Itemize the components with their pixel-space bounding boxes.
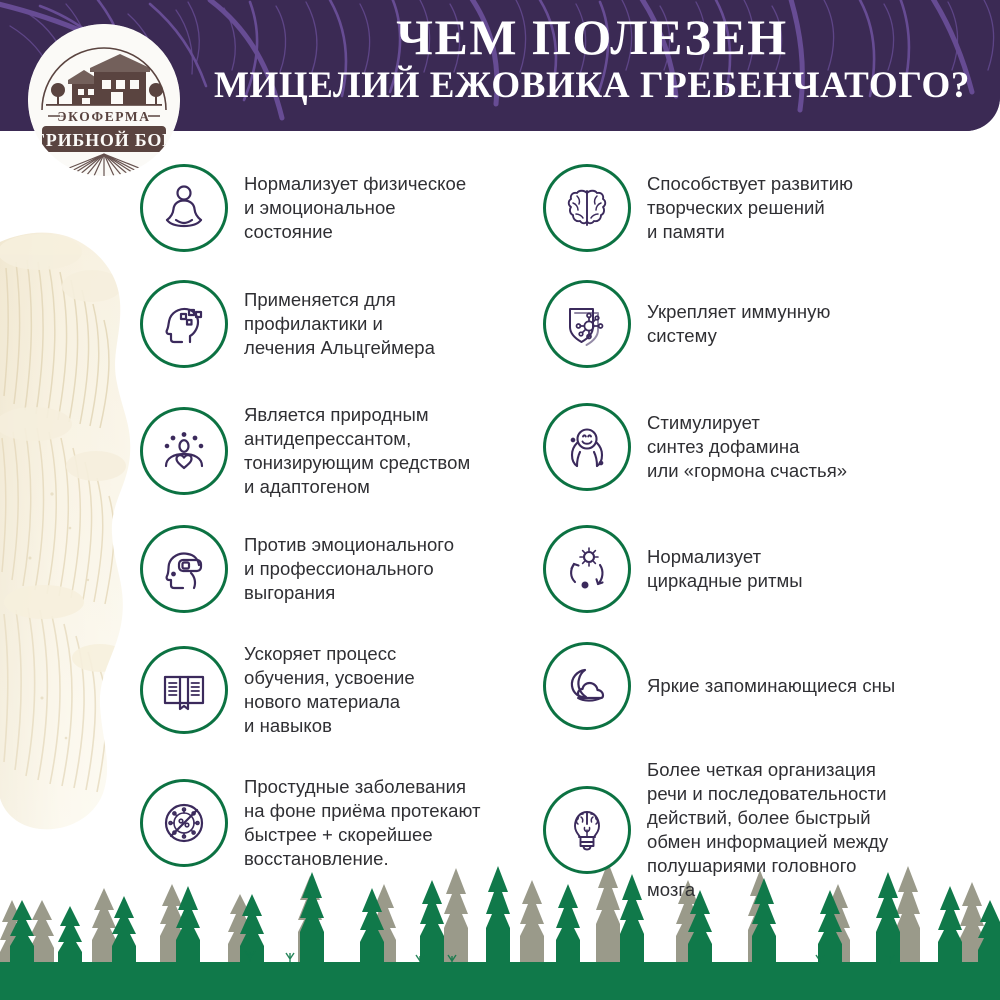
sun-circadian-cycle-icon xyxy=(561,543,613,595)
logo-top-text: ЭКОФЕРМА xyxy=(57,109,150,124)
benefit-text: Яркие запоминающиеся сны xyxy=(647,674,977,698)
benefit-item: Применяется для профилактики и лечения А… xyxy=(140,280,516,368)
head-vr-headset-icon xyxy=(158,543,210,595)
hands-smiley-icon xyxy=(561,421,613,473)
brand-logo[interactable]: ЭКОФЕРМА ГРИБНОЙ БОГ xyxy=(28,24,180,176)
benefit-badge xyxy=(543,164,631,252)
logo-name-text: ГРИБНОЙ БОГ xyxy=(34,129,175,150)
benefit-badge xyxy=(140,164,228,252)
lightbulb-brain-icon xyxy=(561,804,613,856)
benefit-badge xyxy=(140,646,228,734)
benefit-item: Против эмоционального и профессиональног… xyxy=(140,525,516,613)
benefit-item: Является природным антидепрессантом, тон… xyxy=(140,403,516,499)
benefit-text: Является природным антидепрессантом, тон… xyxy=(244,403,516,499)
benefit-text: Ускоряет процесс обучения, усвоение ново… xyxy=(244,642,516,738)
benefit-badge xyxy=(543,642,631,730)
benefit-badge xyxy=(543,525,631,613)
benefit-badge xyxy=(140,525,228,613)
no-virus-icon xyxy=(158,797,210,849)
benefit-item: Способствует развитию творческих решений… xyxy=(543,164,977,252)
benefit-badge xyxy=(543,280,631,368)
shield-molecule-icon xyxy=(561,298,613,350)
benefit-item: Нормализует циркадные ритмы xyxy=(543,525,977,613)
benefit-text: Применяется для профилактики и лечения А… xyxy=(244,288,516,360)
benefit-badge xyxy=(140,779,228,867)
benefit-item: Укрепляет иммунную систему xyxy=(543,280,977,368)
heart-uplift-icon xyxy=(158,425,210,477)
benefit-text: Нормализует физическое и эмоциональное с… xyxy=(244,172,516,244)
benefit-item: Ускоряет процесс обучения, усвоение ново… xyxy=(140,642,516,738)
brain-icon xyxy=(561,182,613,234)
benefit-badge xyxy=(140,280,228,368)
benefit-item: Более четкая организация речи и последов… xyxy=(543,758,977,902)
benefit-text: Против эмоционального и профессиональног… xyxy=(244,533,516,605)
moon-cloud-icon xyxy=(561,660,613,712)
meditation-lotus-icon xyxy=(158,182,210,234)
benefit-text: Укрепляет иммунную систему xyxy=(647,300,977,348)
benefits-content: Нормализует физическое и эмоциональное с… xyxy=(0,150,1000,890)
benefit-badge xyxy=(543,786,631,874)
benefit-item: Стимулирует синтез дофамина или «гормона… xyxy=(543,403,977,491)
open-book-icon xyxy=(158,664,210,716)
infographic-poster: ЧЕМ ПОЛЕЗЕН МИЦЕЛИЙ ЕЖОВИКА ГРЕБЕНЧАТОГО… xyxy=(0,0,1000,1000)
benefit-item: Нормализует физическое и эмоциональное с… xyxy=(140,164,516,252)
benefit-text: Простудные заболевания на фоне приёма пр… xyxy=(244,775,516,871)
benefit-text: Нормализует циркадные ритмы xyxy=(647,545,977,593)
benefit-badge xyxy=(140,407,228,495)
benefit-item: Яркие запоминающиеся сны xyxy=(543,642,977,730)
title-line-1: ЧЕМ ПОЛЕЗЕН xyxy=(210,12,974,63)
header-title: ЧЕМ ПОЛЕЗЕН МИЦЕЛИЙ ЕЖОВИКА ГРЕБЕНЧАТОГО… xyxy=(210,12,974,106)
benefit-item: Простудные заболевания на фоне приёма пр… xyxy=(140,775,516,871)
benefit-text: Более четкая организация речи и последов… xyxy=(647,758,977,902)
logo-emblem: ЭКОФЕРМА ГРИБНОЙ БОГ xyxy=(28,24,180,176)
title-line-2: МИЦЕЛИЙ ЕЖОВИКА ГРЕБЕНЧАТОГО? xyxy=(210,65,974,106)
benefit-badge xyxy=(543,403,631,491)
benefit-text: Способствует развитию творческих решений… xyxy=(647,172,977,244)
head-pixels-icon xyxy=(158,298,210,350)
benefit-text: Стимулирует синтез дофамина или «гормона… xyxy=(647,411,977,483)
